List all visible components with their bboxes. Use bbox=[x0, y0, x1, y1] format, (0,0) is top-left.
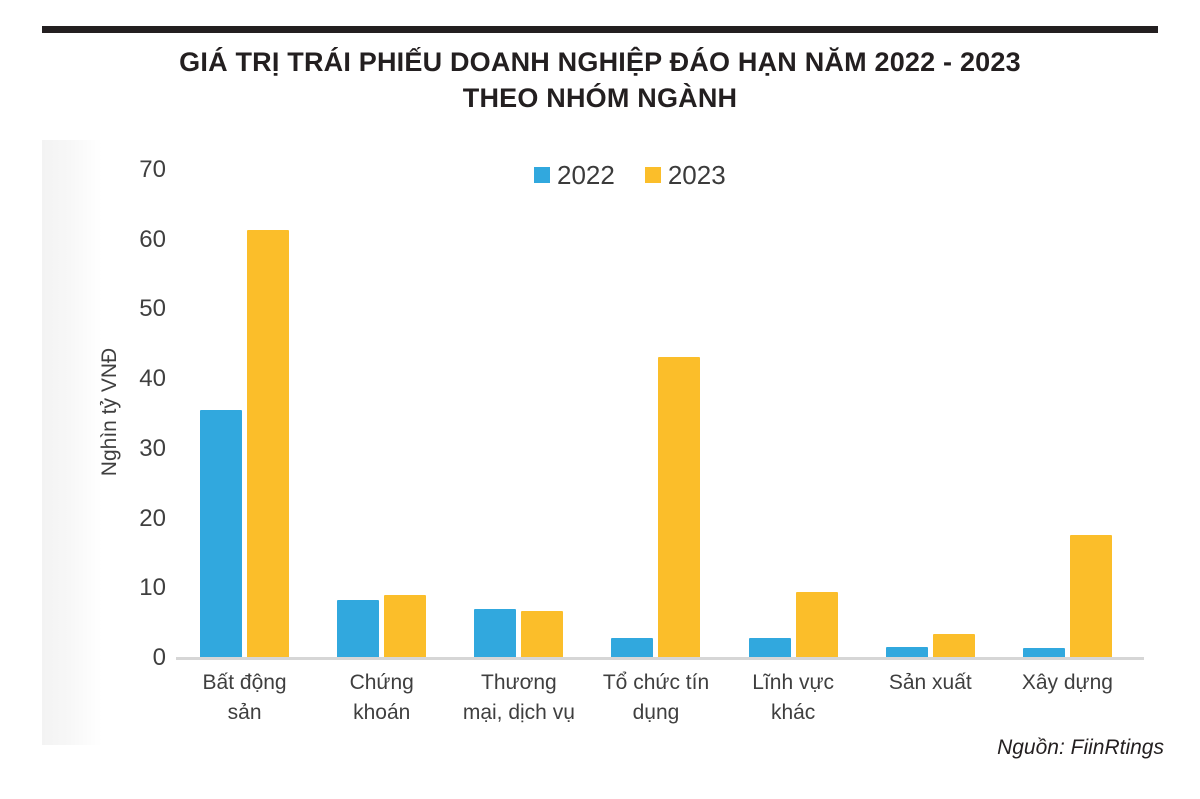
x-label-line: khoán bbox=[305, 698, 458, 728]
bar-2023 bbox=[1070, 535, 1112, 658]
bar-group bbox=[862, 170, 999, 658]
bar-2022 bbox=[749, 638, 791, 658]
y-tick-60: 60 bbox=[110, 228, 166, 252]
bar-2022 bbox=[611, 638, 653, 658]
y-tick-50: 50 bbox=[110, 297, 166, 321]
x-label-line: sản bbox=[168, 698, 321, 728]
bar-group bbox=[725, 170, 862, 658]
bar-group bbox=[313, 170, 450, 658]
bar-2023 bbox=[521, 611, 563, 658]
bar-2022 bbox=[200, 410, 242, 658]
bar-chart: Nghìn tỷ VNĐ 706050403020100 2022 2023 B… bbox=[0, 0, 1200, 799]
x-label-line: mại, dịch vụ bbox=[442, 698, 595, 728]
chart-page: GIÁ TRỊ TRÁI PHIẾU DOANH NGHIỆP ĐÁO HẠN … bbox=[0, 0, 1200, 799]
bar-2023 bbox=[658, 357, 700, 658]
x-label-4: Lĩnh vựckhác bbox=[717, 668, 870, 728]
x-label-line: dụng bbox=[579, 698, 732, 728]
y-tick-70: 70 bbox=[110, 158, 166, 182]
x-label-3: Tổ chức tíndụng bbox=[579, 668, 732, 728]
x-axis-baseline bbox=[176, 657, 1144, 660]
x-label-line: Bất động bbox=[168, 668, 321, 698]
x-label-line: Chứng bbox=[305, 668, 458, 698]
source-note: Nguồn: FiinRtings bbox=[997, 736, 1164, 760]
y-tick-40: 40 bbox=[110, 367, 166, 391]
bar-2023 bbox=[933, 634, 975, 658]
x-label-line: khác bbox=[717, 698, 870, 728]
bar-2023 bbox=[247, 230, 289, 658]
x-label-line: Tổ chức tín bbox=[579, 668, 732, 698]
x-label-line: Sản xuất bbox=[854, 668, 1007, 698]
x-label-6: Xây dựng bbox=[991, 668, 1144, 698]
bar-group bbox=[176, 170, 313, 658]
y-tick-20: 20 bbox=[110, 507, 166, 531]
plot-area bbox=[176, 170, 1136, 658]
x-label-0: Bất độngsản bbox=[168, 668, 321, 728]
x-label-2: Thươngmại, dịch vụ bbox=[442, 668, 595, 728]
bar-group bbox=[999, 170, 1136, 658]
x-label-line: Thương bbox=[442, 668, 595, 698]
bar-2022 bbox=[474, 609, 516, 658]
x-label-5: Sản xuất bbox=[854, 668, 1007, 698]
y-tick-0: 0 bbox=[110, 646, 166, 670]
bar-2023 bbox=[796, 592, 838, 658]
y-tick-30: 30 bbox=[110, 437, 166, 461]
bar-group bbox=[450, 170, 587, 658]
y-tick-10: 10 bbox=[110, 576, 166, 600]
bar-2023 bbox=[384, 595, 426, 658]
x-label-line: Lĩnh vực bbox=[717, 668, 870, 698]
x-label-1: Chứngkhoán bbox=[305, 668, 458, 728]
x-label-line: Xây dựng bbox=[991, 668, 1144, 698]
bar-2022 bbox=[337, 600, 379, 658]
bar-group bbox=[587, 170, 724, 658]
